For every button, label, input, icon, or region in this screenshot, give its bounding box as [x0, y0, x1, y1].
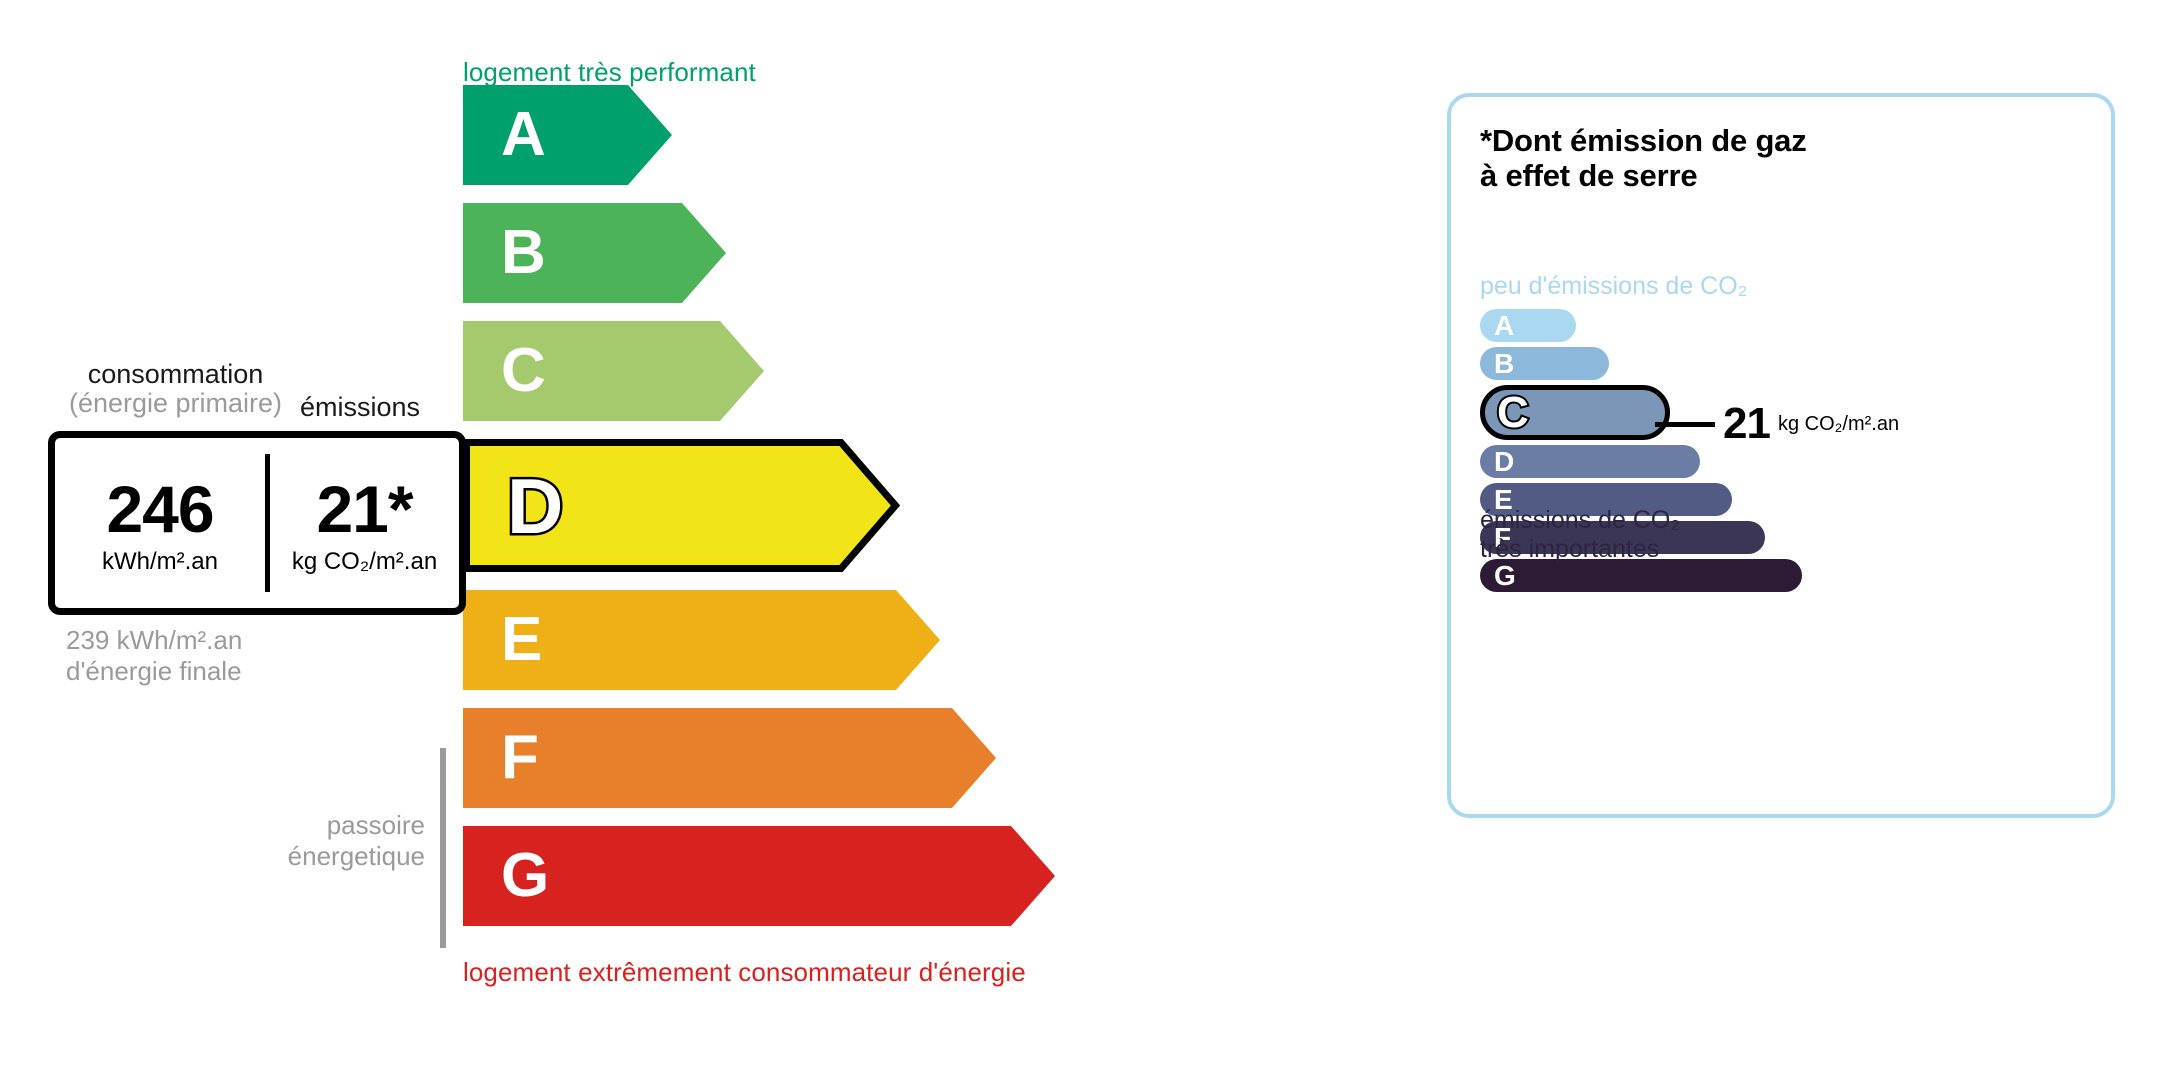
energy-consumption-panel: logement très performant ABCDEFG logemen…	[0, 0, 1400, 1079]
energy-band-e: E	[463, 590, 940, 690]
co2-bar-b: B	[1480, 347, 1609, 380]
emission-unit: kg CO₂/m².an	[292, 548, 437, 576]
measured-values-box: 246 kWh/m².an 21* kg CO₂/m².an	[48, 431, 466, 615]
co2-bar-a: A	[1480, 309, 1576, 342]
co2-bar-letter-b: B	[1494, 350, 1514, 378]
co2-bar-d: D	[1480, 445, 1700, 478]
energy-band-c: C	[463, 321, 764, 421]
co2-bottom-caption: émissions de CO₂ très importantes	[1480, 506, 1680, 564]
energy-band-arrow-e	[463, 590, 940, 690]
co2-callout-value: 21	[1723, 402, 1770, 446]
co2-bottom-caption-line1: émissions de CO₂	[1480, 506, 1680, 535]
dpe-energy-label: logement très performant ABCDEFG logemen…	[0, 0, 2169, 1079]
passoire-label: passoire énergetique	[230, 810, 425, 871]
co2-leader-line	[1655, 422, 1715, 427]
energy-band-f: F	[463, 708, 996, 808]
emission-value: 21*	[316, 476, 412, 542]
consumption-header-main: consommation	[88, 359, 264, 389]
energy-band-arrow-b	[463, 203, 726, 303]
passoire-bracket	[440, 748, 446, 948]
energy-band-arrow-f	[463, 708, 996, 808]
co2-bar-letter-g: G	[1494, 562, 1516, 590]
co2-panel-title: *Dont émission de gaz à effet de serre	[1480, 124, 1807, 193]
co2-top-caption: peu d'émissions de CO₂	[1480, 272, 1747, 301]
energy-bottom-caption: logement extrêmement consommateur d'éner…	[463, 957, 1026, 988]
energy-band-b: B	[463, 203, 726, 303]
co2-emissions-panel: *Dont émission de gaz à effet de serre p…	[1447, 93, 2115, 818]
final-energy-line2: d'énergie finale	[66, 656, 242, 687]
passoire-line2: énergetique	[230, 841, 425, 872]
consumption-value: 246	[106, 476, 213, 542]
co2-callout-unit: kg CO₂/m².an	[1778, 413, 1899, 436]
energy-band-arrow-g	[463, 826, 1055, 926]
passoire-line1: passoire	[230, 810, 425, 841]
energy-band-arrow-d	[463, 439, 899, 572]
final-energy-note: 239 kWh/m².an d'énergie finale	[66, 625, 242, 686]
co2-bar-letter-d: D	[1494, 448, 1514, 476]
energy-top-caption: logement très performant	[463, 57, 756, 88]
energy-band-d: D	[463, 439, 899, 572]
energy-band-arrow-c	[463, 321, 764, 421]
emissions-header: émissions	[300, 392, 420, 423]
co2-title-line1: *Dont émission de gaz	[1480, 124, 1807, 159]
co2-callout: 21 kg CO₂/m².an	[1655, 402, 1899, 446]
energy-band-arrow-a	[463, 85, 672, 185]
final-energy-line1: 239 kWh/m².an	[66, 625, 242, 656]
co2-bar-letter-c: C	[1497, 391, 1529, 435]
energy-band-g: G	[463, 826, 1055, 926]
emission-value-cell: 21* kg CO₂/m².an	[270, 438, 459, 608]
consumption-header: consommation (énergie primaire)	[48, 360, 303, 418]
consumption-value-cell: 246 kWh/m².an	[55, 438, 265, 608]
energy-band-a: A	[463, 85, 672, 185]
co2-bottom-caption-line2: très importantes	[1480, 535, 1680, 564]
co2-bar-c: C	[1480, 385, 1670, 440]
consumption-unit: kWh/m².an	[102, 548, 218, 576]
co2-title-line2: à effet de serre	[1480, 159, 1807, 194]
co2-bar-letter-a: A	[1494, 312, 1514, 340]
consumption-header-sub: (énergie primaire)	[48, 389, 303, 418]
